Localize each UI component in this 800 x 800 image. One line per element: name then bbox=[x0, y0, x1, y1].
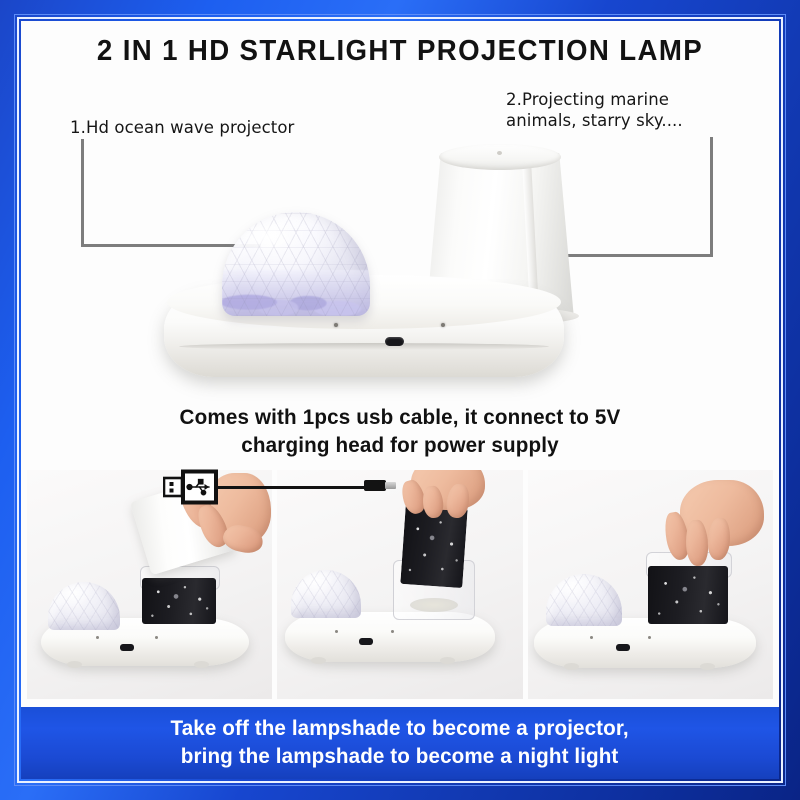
banner-line-1: Take off the lampshade to become a proje… bbox=[171, 715, 629, 743]
base-button-dot-right[interactable] bbox=[441, 323, 445, 327]
lamp-base-seam bbox=[179, 343, 549, 350]
mid-caption-line-2: charging head for power supply bbox=[36, 432, 764, 460]
banner-line-2: bring the lampshade to become a night li… bbox=[171, 743, 629, 771]
photo-3-projection-film bbox=[648, 566, 728, 624]
photo-3-foot-left bbox=[564, 663, 579, 670]
bottom-banner: Take off the lampshade to become a proje… bbox=[21, 707, 779, 779]
crystal-ball-dome bbox=[222, 212, 370, 316]
callout-label-marine-animals: 2.Projecting marine animals, starry sky.… bbox=[506, 89, 683, 131]
photo-3-button-dot-a bbox=[590, 636, 593, 639]
photo-2-remove-film bbox=[277, 470, 522, 699]
photo-3-button-dot-b bbox=[648, 636, 651, 639]
usb-c-port bbox=[385, 337, 404, 346]
bottom-banner-text: Take off the lampshade to become a proje… bbox=[171, 715, 629, 771]
callout-label-ocean-wave-projector: 1.Hd ocean wave projector bbox=[70, 117, 294, 138]
photo-1-projection-film bbox=[142, 578, 216, 624]
usb-connector-icon bbox=[163, 469, 219, 505]
product-infographic-poster: 2 IN 1 HD STARLIGHT PROJECTION LAMP 1.Hd… bbox=[0, 0, 800, 800]
hero-product-image bbox=[21, 139, 779, 404]
page-title: 2 IN 1 HD STARLIGHT PROJECTION LAMP bbox=[32, 35, 767, 68]
base-button-dot-left[interactable] bbox=[334, 323, 338, 327]
photo-1-button-dot-a bbox=[96, 636, 99, 639]
photo-row bbox=[27, 470, 773, 699]
photo-1-foot-right bbox=[194, 661, 209, 668]
mid-caption: Comes with 1pcs usb cable, it connect to… bbox=[36, 404, 764, 459]
photo-2-cylinder-inner-led bbox=[410, 598, 458, 612]
lampshade-top-cap bbox=[439, 144, 561, 170]
callout-2-line-2: animals, starry sky.... bbox=[506, 110, 683, 131]
lampshade-top-nub bbox=[497, 151, 502, 155]
photo-1-remove-lampshade bbox=[27, 470, 272, 699]
dome-highlight bbox=[240, 222, 294, 252]
photo-1-button-dot-b bbox=[155, 636, 158, 639]
usb-cable bbox=[218, 486, 373, 489]
photo-2-usb-port bbox=[359, 638, 373, 645]
photo-1-foot-left bbox=[67, 661, 82, 668]
photo-3-insert-film bbox=[528, 470, 773, 699]
photo-3-foot-right bbox=[700, 663, 715, 670]
usb-cable-plug-body bbox=[364, 480, 386, 491]
mid-caption-line-1: Comes with 1pcs usb cable, it connect to… bbox=[36, 404, 764, 432]
photo-1-usb-port bbox=[120, 644, 134, 651]
usb-cable-plug-tip bbox=[385, 482, 396, 489]
photo-3-usb-port bbox=[616, 644, 630, 651]
poster-canvas: 2 IN 1 HD STARLIGHT PROJECTION LAMP 1.Hd… bbox=[21, 21, 779, 779]
callout-2-line-1: 2.Projecting marine bbox=[506, 89, 683, 110]
